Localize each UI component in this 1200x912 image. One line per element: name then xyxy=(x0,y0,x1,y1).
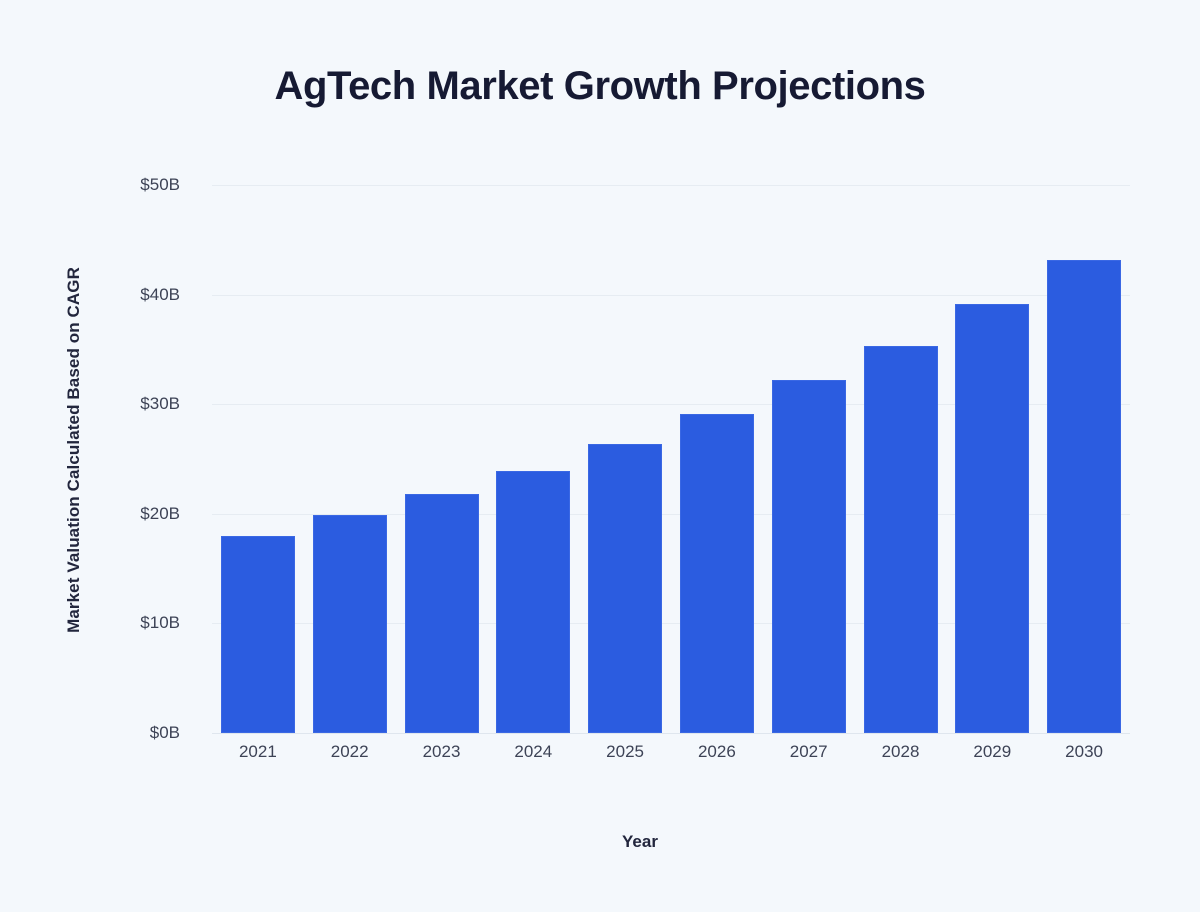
y-axis-tick-label: $10B xyxy=(0,613,198,633)
x-axis-tick-label: 2025 xyxy=(606,742,644,762)
x-axis-tick-label: 2022 xyxy=(331,742,369,762)
y-axis-tick-label: $40B xyxy=(0,285,198,305)
page-title: AgTech Market Growth Projections xyxy=(0,62,1200,110)
bar-2028[interactable] xyxy=(864,346,938,733)
y-axis-tick-label: $50B xyxy=(0,175,198,195)
bar-2029[interactable] xyxy=(955,304,1029,733)
x-axis-tick-label: 2026 xyxy=(698,742,736,762)
y-axis-tick-labels: $0B$10B$20B$30B$40B$50B xyxy=(0,185,198,733)
x-axis-tick-label: 2029 xyxy=(973,742,1011,762)
x-axis-tick-label: 2024 xyxy=(514,742,552,762)
bar-2030[interactable] xyxy=(1047,260,1121,733)
x-axis-tick-label: 2027 xyxy=(790,742,828,762)
bar-series xyxy=(212,185,1130,733)
y-axis-tick-label: $0B xyxy=(0,723,198,743)
bar-2022[interactable] xyxy=(313,515,387,733)
bar-2026[interactable] xyxy=(680,414,754,733)
y-axis-tick-label: $30B xyxy=(0,394,198,414)
x-axis-title: Year xyxy=(140,832,1140,852)
x-axis-tick-label: 2028 xyxy=(882,742,920,762)
gridline xyxy=(212,733,1130,734)
x-axis-tick-label: 2030 xyxy=(1065,742,1103,762)
chart-page: AgTech Market Growth Projections Market … xyxy=(0,0,1200,912)
x-axis-tick-label: 2023 xyxy=(423,742,461,762)
x-axis-tick-labels: 2021202220232024202520262027202820292030 xyxy=(212,742,1130,772)
bar-2021[interactable] xyxy=(221,536,295,733)
y-axis-tick-label: $20B xyxy=(0,504,198,524)
x-axis-tick-label: 2021 xyxy=(239,742,277,762)
bar-2027[interactable] xyxy=(772,380,846,733)
bar-2023[interactable] xyxy=(405,494,479,733)
bar-2025[interactable] xyxy=(588,444,662,733)
bar-2024[interactable] xyxy=(496,471,570,733)
